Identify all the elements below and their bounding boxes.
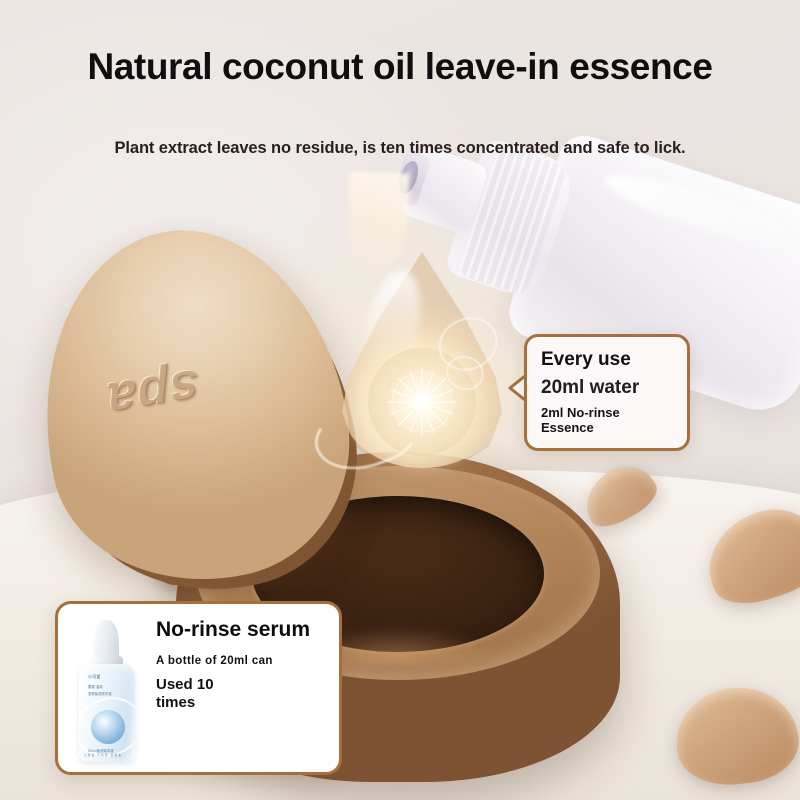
serum-bottle-image: 小可爱 柔顺·温和 宠物免洗精华液 50ml免洗精华液 无硅油 不刺激 易吸收 [58,604,154,772]
serum-label-footer: 无硅油 不刺激 易吸收 [84,753,122,757]
serum-label-line2: 宠物免洗精华液 [88,691,112,696]
serum-label-brand: 小可爱 [88,674,101,680]
product-banner: spa [0,0,800,800]
product-card-subtitle: A bottle of 20ml can [156,655,331,667]
serum-bottle-body: 小可爱 柔顺·温和 宠物免洗精华液 50ml免洗精华液 无硅油 不刺激 易吸收 [79,664,135,762]
product-card-text: No-rinse serum A bottle of 20ml can Used… [154,604,339,712]
product-card-usage: Used 10times [156,676,331,712]
usage-callout-line3: 2ml No-rinse Essence [541,405,675,436]
usage-callout-line2: 20ml water [541,376,675,400]
usage-callout: Every use 20ml water 2ml No-rinse Essenc… [524,334,690,451]
product-card-title: No-rinse serum [156,618,331,641]
serum-bottle-cap [93,620,119,660]
product-card: 小可爱 柔顺·温和 宠物免洗精华液 50ml免洗精华液 无硅油 不刺激 易吸收 … [55,601,342,775]
page-subtitle: Plant extract leaves no residue, is ten … [0,139,800,158]
usage-callout-line1: Every use [541,348,675,372]
page-title: Natural coconut oil leave-in essence [0,46,800,88]
serum-bottle: 小可爱 柔顺·温和 宠物免洗精华液 50ml免洗精华液 无硅油 不刺激 易吸收 [76,620,138,762]
pouring-liquid-stream [346,172,409,270]
serum-label-orb-icon [91,710,125,744]
serum-label-line1: 柔顺·温和 [88,684,103,689]
